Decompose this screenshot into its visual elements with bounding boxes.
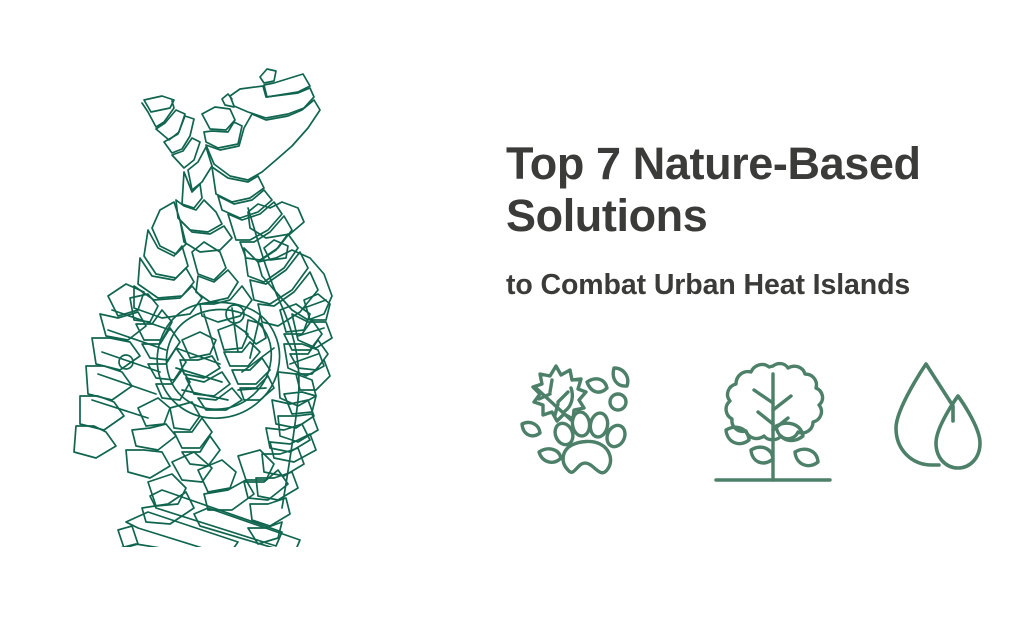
page-title-line-2: Solutions [506, 190, 707, 241]
page-title: Top 7 Nature-Based Solutions [506, 138, 992, 242]
page-title-line-1: Top 7 Nature-Based [506, 138, 921, 189]
page-subtitle: to Combat Urban Heat Islands [506, 268, 992, 302]
icon-row [506, 358, 992, 488]
city-parcel-map-illustration [52, 52, 352, 547]
water-management-icon [892, 358, 1002, 480]
text-column: Top 7 Nature-Based Solutions to Combat U… [506, 138, 992, 303]
biodiversity-icon [512, 358, 634, 480]
poster-canvas: Top 7 Nature-Based Solutions to Combat U… [0, 0, 1024, 621]
urban-tree-icon [712, 358, 834, 488]
